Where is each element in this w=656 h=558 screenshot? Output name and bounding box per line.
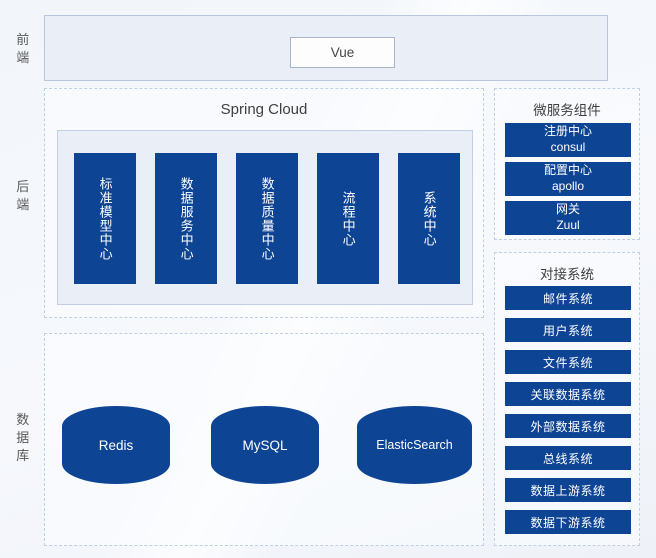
docking-item-upstream-data-system[interactable]: 数据上游系统 <box>505 478 631 502</box>
docking-item-downstream-data-system[interactable]: 数据下游系统 <box>505 510 631 534</box>
row-label-database-char-2: 库 <box>8 447 38 465</box>
docking-item-linked-data-system[interactable]: 关联数据系统 <box>505 382 631 406</box>
docking-item-file-system[interactable]: 文件系统 <box>505 350 631 374</box>
component-gateway[interactable]: 网关 Zuul <box>505 201 631 235</box>
service-card-standard-model-center[interactable]: 标准模型中心 <box>74 153 136 284</box>
service-card-process-center[interactable]: 流程中心 <box>317 153 379 284</box>
architecture-diagram: 前 端 后 端 数 据 库 Vue Spring Cloud 标准模型中心 数据… <box>0 0 656 558</box>
row-label-backend-char-0: 后 <box>8 178 38 196</box>
component-config-center[interactable]: 配置中心 apollo <box>505 162 631 196</box>
row-label-backend: 后 端 <box>8 178 38 214</box>
spring-cloud-service-tray: 标准模型中心 数据服务中心 数据质量中心 流程中心 系统中心 <box>57 130 473 305</box>
docking-systems-panel: 对接系统 邮件系统 用户系统 文件系统 关联数据系统 外部数据系统 总线系统 数… <box>494 252 640 546</box>
row-label-backend-char-1: 端 <box>8 196 38 214</box>
microservice-components-title: 微服务组件 <box>495 99 639 119</box>
microservice-components-panel: 微服务组件 注册中心 consul 配置中心 apollo 网关 Zuul <box>494 88 640 240</box>
row-label-frontend-char-0: 前 <box>8 31 38 49</box>
component-config-center-zh: 配置中心 <box>544 163 592 179</box>
spring-cloud-title: Spring Cloud <box>45 101 483 118</box>
frontend-client-vue[interactable]: Vue <box>290 37 395 68</box>
service-card-system-center[interactable]: 系统中心 <box>398 153 460 284</box>
component-gateway-zh: 网关 <box>556 202 580 218</box>
docking-item-bus-system[interactable]: 总线系统 <box>505 446 631 470</box>
docking-item-mail-system[interactable]: 邮件系统 <box>505 286 631 310</box>
row-label-frontend: 前 端 <box>8 31 38 67</box>
docking-item-external-data-system[interactable]: 外部数据系统 <box>505 414 631 438</box>
datastore-redis[interactable]: Redis <box>62 406 170 484</box>
row-label-frontend-char-1: 端 <box>8 49 38 67</box>
row-label-database: 数 据 库 <box>8 411 38 465</box>
component-registry-center[interactable]: 注册中心 consul <box>505 123 631 157</box>
component-registry-center-en: consul <box>551 140 586 156</box>
row-label-database-char-1: 据 <box>8 429 38 447</box>
component-gateway-en: Zuul <box>556 218 579 234</box>
docking-item-user-system[interactable]: 用户系统 <box>505 318 631 342</box>
service-card-data-quality-center[interactable]: 数据质量中心 <box>236 153 298 284</box>
component-registry-center-zh: 注册中心 <box>544 124 592 140</box>
backend-layer-panel: Spring Cloud 标准模型中心 数据服务中心 数据质量中心 流程中心 系… <box>44 88 484 318</box>
datastore-elasticsearch[interactable]: ElasticSearch <box>357 406 472 484</box>
docking-systems-title: 对接系统 <box>495 263 639 283</box>
service-card-data-service-center[interactable]: 数据服务中心 <box>155 153 217 284</box>
frontend-layer-panel: Vue <box>44 15 608 81</box>
row-label-database-char-0: 数 <box>8 411 38 429</box>
datastore-mysql[interactable]: MySQL <box>211 406 319 484</box>
component-config-center-en: apollo <box>552 179 584 195</box>
